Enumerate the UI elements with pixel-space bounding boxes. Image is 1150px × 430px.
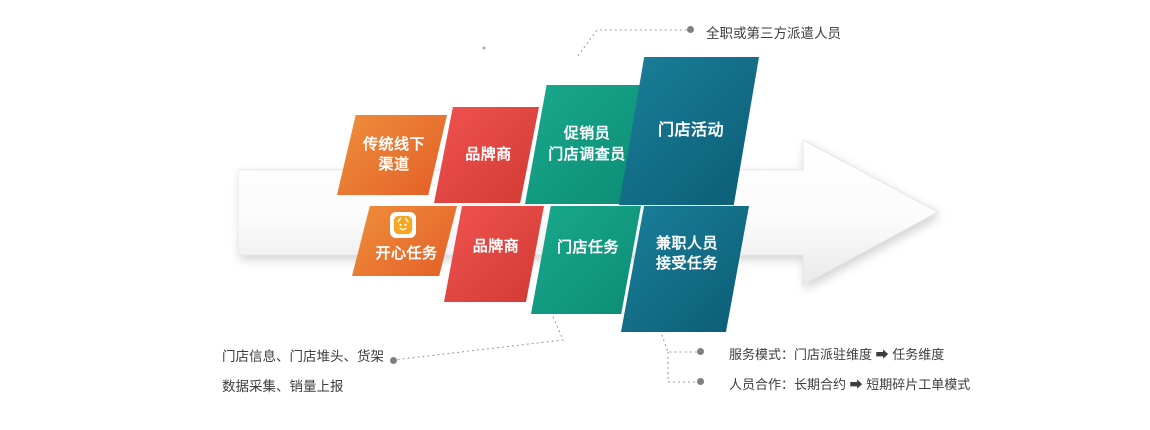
annotation-bottom-right-2: 人员合作：长期合约 ➡ 短期碎片工单模式 <box>729 374 970 393</box>
annotation-bottom-right-1: 服务模式：门店派驻维度 ➡ 任务维度 <box>729 344 944 363</box>
chevron-bottom-4-label: 兼职人员 接受任务 <box>652 234 718 275</box>
chevron-top-1-label: 传统线下 渠道 <box>359 135 425 176</box>
diagram-canvas: 传统线下 渠道 品牌商 促销员 门店调查员 门店活动 <box>0 0 1150 430</box>
annotation-bottom-left-1: 门店信息、门店堆头、货架 <box>222 345 384 365</box>
annotation-top-right: 全职或第三方派遣人员 <box>706 22 841 42</box>
chevron-top-4-label: 门店活动 <box>654 120 724 142</box>
connector-dot-top-right <box>687 26 694 33</box>
chevron-bottom-2-label: 品牌商 <box>469 237 520 257</box>
connector-dot-bottom-right-1 <box>697 348 704 355</box>
chevron-top-1[interactable]: 传统线下 渠道 <box>337 115 447 195</box>
chevron-top-2-label: 品牌商 <box>461 145 512 165</box>
connector-dot-bottom-right-2 <box>697 378 704 385</box>
connector-dot-bottom-left <box>390 357 397 364</box>
annotation-bottom-left-2: 数据采集、销量上报 <box>222 375 344 395</box>
chevron-bottom-3-label: 门店任务 <box>553 238 619 258</box>
happy-task-icon <box>390 212 416 238</box>
chevron-top-3-label: 促销员 门店调查员 <box>544 124 626 165</box>
chevron-bottom-1[interactable]: 开心任务 <box>352 206 457 276</box>
